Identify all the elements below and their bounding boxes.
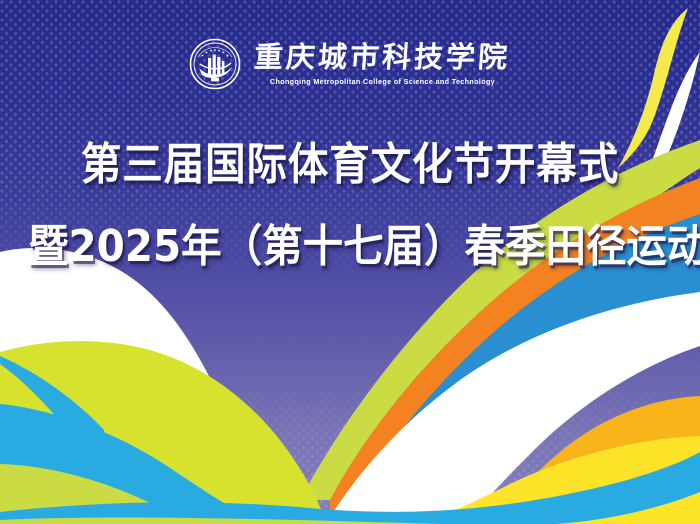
event-title: 第三届国际体育文化节开幕式 暨2025年（第十七届）春季田径运动会 bbox=[0, 128, 700, 274]
institution-header: 重庆城市科技学院 Chongqing Metropolitan College … bbox=[0, 38, 700, 90]
university-crest-icon bbox=[189, 38, 241, 90]
institution-name-cn: 重庆城市科技学院 bbox=[253, 43, 511, 72]
event-title-line-1: 第三届国际体育文化节开幕式 bbox=[28, 128, 672, 192]
institution-name-en: Chongqing Metropolitan College of Scienc… bbox=[270, 78, 495, 85]
event-poster: 重庆城市科技学院 Chongqing Metropolitan College … bbox=[0, 0, 700, 524]
institution-name-group: 重庆城市科技学院 Chongqing Metropolitan College … bbox=[254, 43, 510, 85]
event-title-line-2: 暨2025年（第十七届）春季田径运动会 bbox=[28, 210, 672, 274]
